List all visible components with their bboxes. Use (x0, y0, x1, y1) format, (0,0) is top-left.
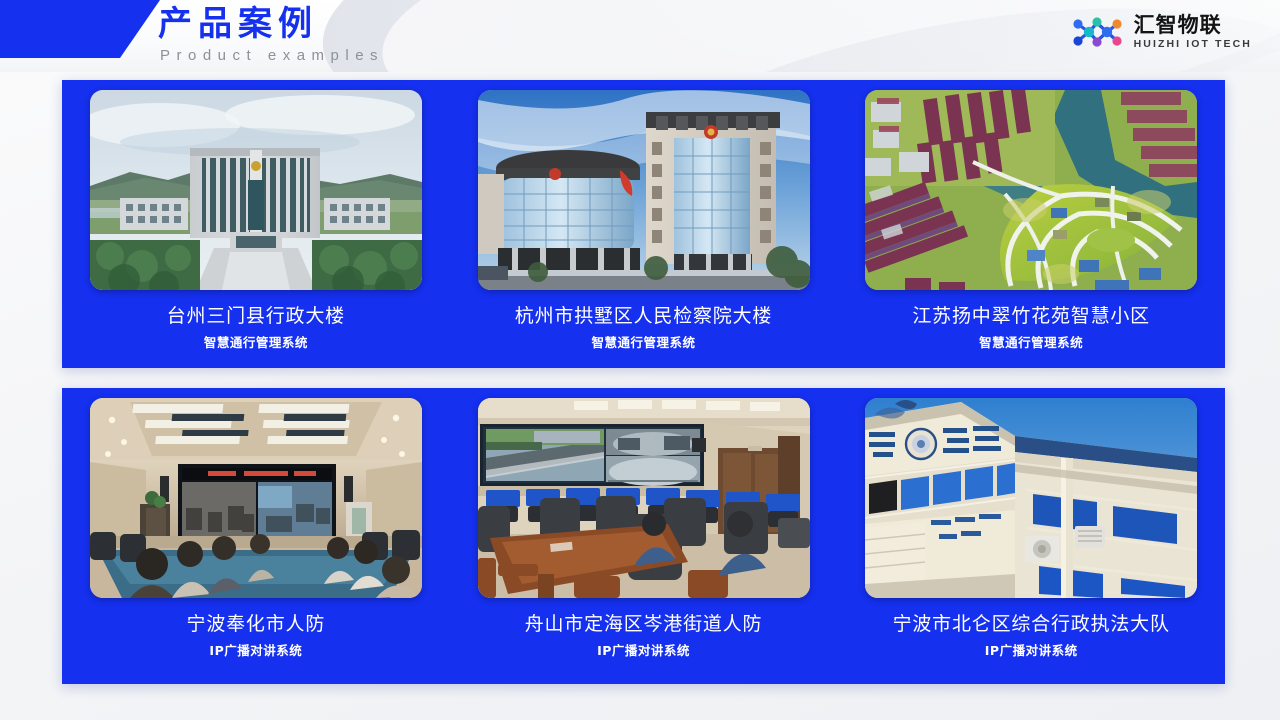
brand-name-en: HUIZHI IOT TECH (1134, 37, 1252, 51)
slide-header: 产品案例 Product examples (0, 0, 1280, 72)
taizhou-sanmen-administrative-building-photo (90, 90, 422, 290)
case-card-subtitle: 智慧通行管理系统 (592, 335, 696, 350)
case-row-1: 台州三门县行政大楼 智慧通行管理系统 (62, 80, 1225, 368)
brand-logo-text: 汇智物联 HUIZHI IOT TECH (1134, 14, 1252, 51)
case-panel-row-1: 台州三门县行政大楼 智慧通行管理系统 (62, 80, 1225, 368)
case-card-subtitle: IP广播对讲系统 (209, 643, 302, 658)
case-card-subtitle: IP广播对讲系统 (985, 643, 1078, 658)
molecule-network-icon (1069, 12, 1125, 52)
header-blue-parallelogram (0, 0, 160, 58)
case-card-taizhou[interactable]: 台州三门县行政大楼 智慧通行管理系统 (62, 80, 450, 368)
case-card-yangzhong[interactable]: 江苏扬中翠竹花苑智慧小区 智慧通行管理系统 (837, 80, 1225, 368)
case-card-title: 台州三门县行政大楼 (167, 305, 345, 327)
page-title: 产品案例 (158, 2, 578, 46)
case-card-zhoushan[interactable]: 舟山市定海区岑港街道人防 IP广播对讲系统 (450, 388, 838, 684)
brand-name-cn: 汇智物联 (1134, 14, 1252, 37)
zhoushan-dinghai-cengang-civil-defense-control-room-photo (478, 398, 810, 598)
case-card-title: 宁波市北仑区综合行政执法大队 (893, 613, 1170, 635)
brand-logo: 汇智物联 HUIZHI IOT TECH (1069, 12, 1252, 52)
ningbo-fenghua-civil-defense-meeting-room-photo (90, 398, 422, 598)
case-card-title: 杭州市拱墅区人民检察院大楼 (515, 305, 772, 327)
case-card-title: 宁波奉化市人防 (187, 613, 326, 635)
hangzhou-gongshu-procuratorate-building-photo (478, 90, 810, 290)
case-panel-row-2: 宁波奉化市人防 IP广播对讲系统 (62, 388, 1225, 684)
case-row-2: 宁波奉化市人防 IP广播对讲系统 (62, 388, 1225, 684)
case-card-ningbo-fenghua[interactable]: 宁波奉化市人防 IP广播对讲系统 (62, 388, 450, 684)
case-card-title: 江苏扬中翠竹花苑智慧小区 (912, 305, 1150, 327)
jiangsu-yangzhong-cuizhu-huayuan-community-aerial-photo (865, 90, 1197, 290)
case-card-ningbo-beilun[interactable]: 宁波市北仑区综合行政执法大队 IP广播对讲系统 (837, 388, 1225, 684)
ningbo-beilun-law-enforcement-building-photo (865, 398, 1197, 598)
case-card-subtitle: IP广播对讲系统 (597, 643, 690, 658)
case-card-hangzhou[interactable]: 杭州市拱墅区人民检察院大楼 智慧通行管理系统 (450, 80, 838, 368)
case-card-subtitle: 智慧通行管理系统 (204, 335, 308, 350)
case-card-title: 舟山市定海区岑港街道人防 (525, 613, 763, 635)
case-card-subtitle: 智慧通行管理系统 (979, 335, 1083, 350)
page-subtitle: Product examples (158, 46, 578, 66)
page-title-block: 产品案例 Product examples (158, 2, 578, 66)
slide-root: 产品案例 Product examples (0, 0, 1280, 720)
